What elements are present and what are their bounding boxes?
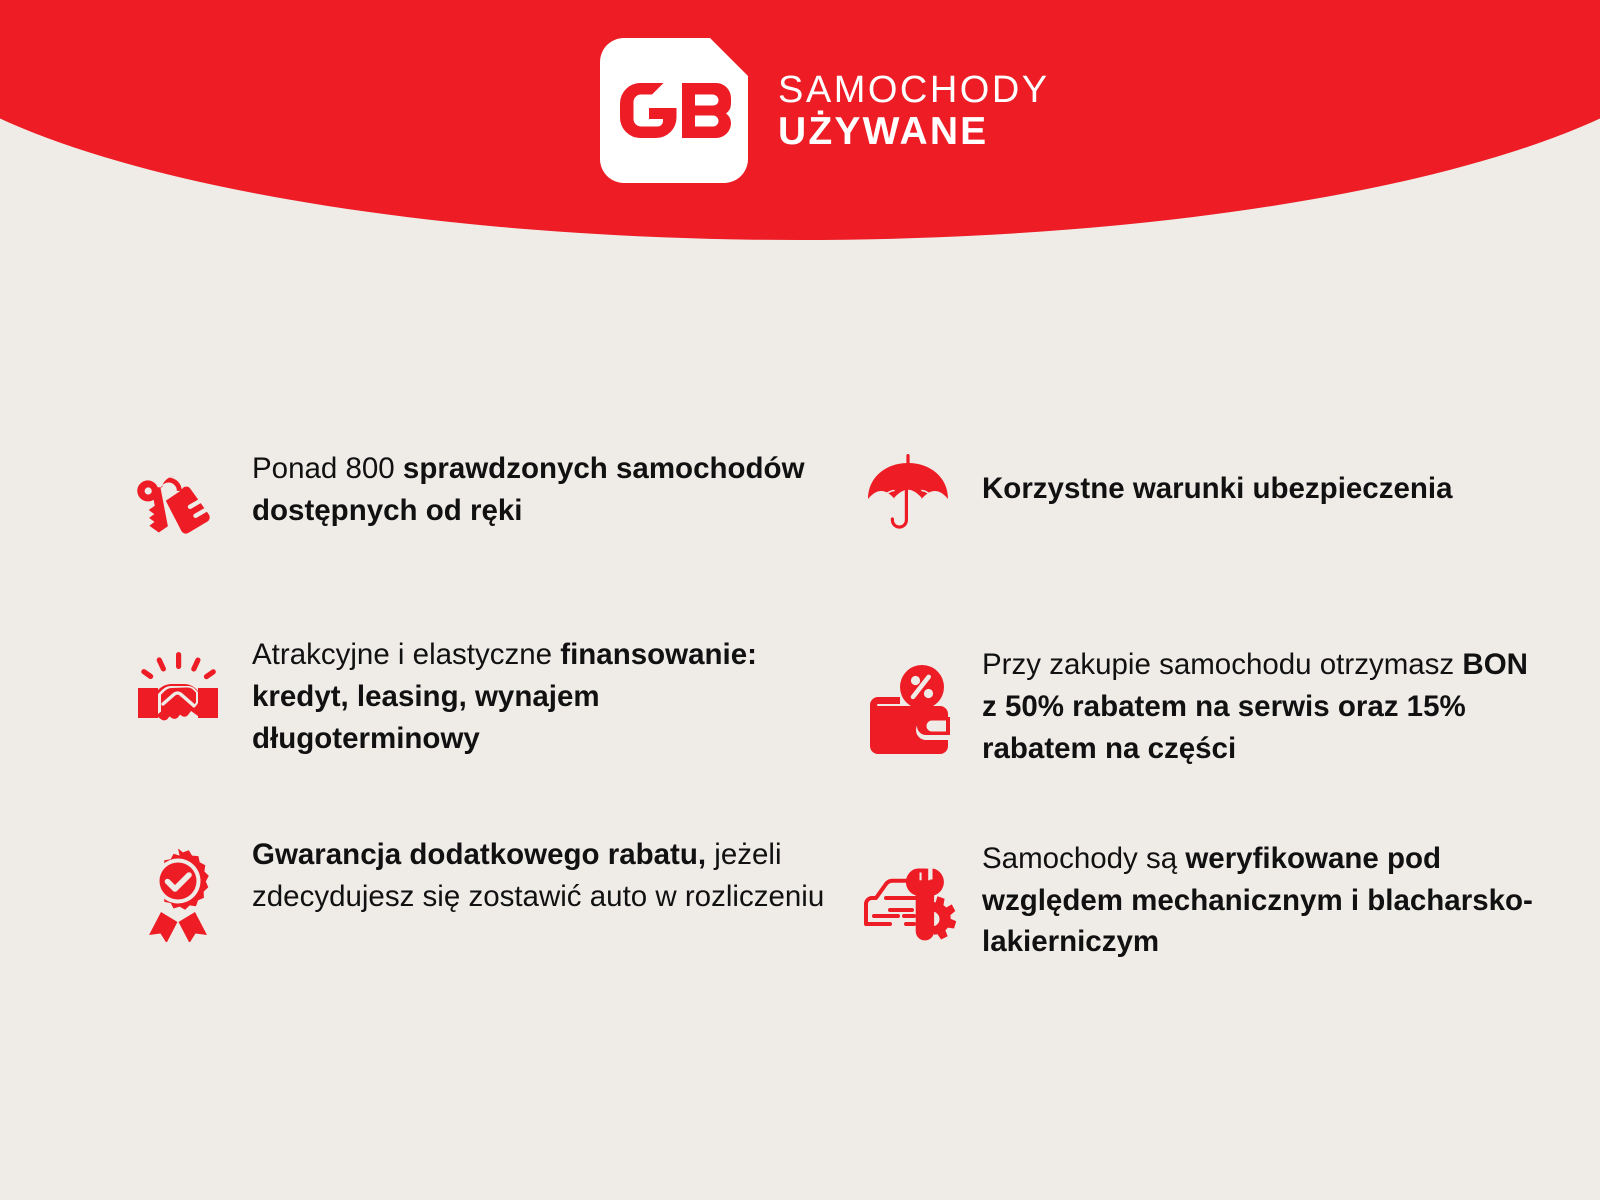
award-rosette-check-icon (130, 846, 226, 942)
features-grid: Ponad 800 sprawdzonych samochodów dostęp… (0, 440, 1600, 963)
feature-item-extra-discount: Gwarancja dodatkowego rabatu, jeżeli zde… (130, 832, 840, 942)
feature-text: Korzystne warunki ubezpieczenia (982, 446, 1453, 510)
wallet-percent-icon (860, 660, 956, 756)
feature-item-verified-cars: Samochody są weryfikowane pod względem m… (860, 836, 1560, 964)
feature-text: Gwarancja dodatkowego rabatu, jeżeli zde… (252, 832, 832, 918)
feature-item-service-voucher: Przy zakupie samochodu otrzymasz BON z 5… (860, 642, 1560, 770)
feature-text: Samochody są weryfikowane pod względem m… (982, 836, 1542, 964)
umbrella-icon (860, 446, 956, 542)
features-column-left: Ponad 800 sprawdzonych samochodów dostęp… (130, 440, 840, 963)
logo-line-samochody: SAMOCHODY (778, 70, 1050, 111)
logo-wordmark: SAMOCHODY UŻYWANE (778, 70, 1050, 153)
feature-text: Atrakcyjne i elastyczne finansowanie: kr… (252, 632, 832, 760)
brand-logo[interactable]: SAMOCHODY UŻYWANE (600, 38, 1050, 183)
logo-line-uzywane: UŻYWANE (778, 111, 1050, 153)
header-banner: SAMOCHODY UŻYWANE (0, 0, 1600, 250)
features-column-right: Korzystne warunki ubezpieczenia Przy z (860, 440, 1560, 963)
feature-text: Przy zakupie samochodu otrzymasz BON z 5… (982, 642, 1542, 770)
gb-logo-mark-icon (600, 38, 748, 183)
car-keys-tag-icon (130, 458, 226, 554)
handshake-icon (130, 646, 226, 742)
feature-item-insurance: Korzystne warunki ubezpieczenia (860, 446, 1560, 542)
feature-item-financing: Atrakcyjne i elastyczne finansowanie: kr… (130, 632, 840, 760)
feature-item-available-cars: Ponad 800 sprawdzonych samochodów dostęp… (130, 446, 840, 554)
feature-text: Ponad 800 sprawdzonych samochodów dostęp… (252, 446, 832, 532)
car-service-wrench-gear-icon (860, 848, 956, 944)
